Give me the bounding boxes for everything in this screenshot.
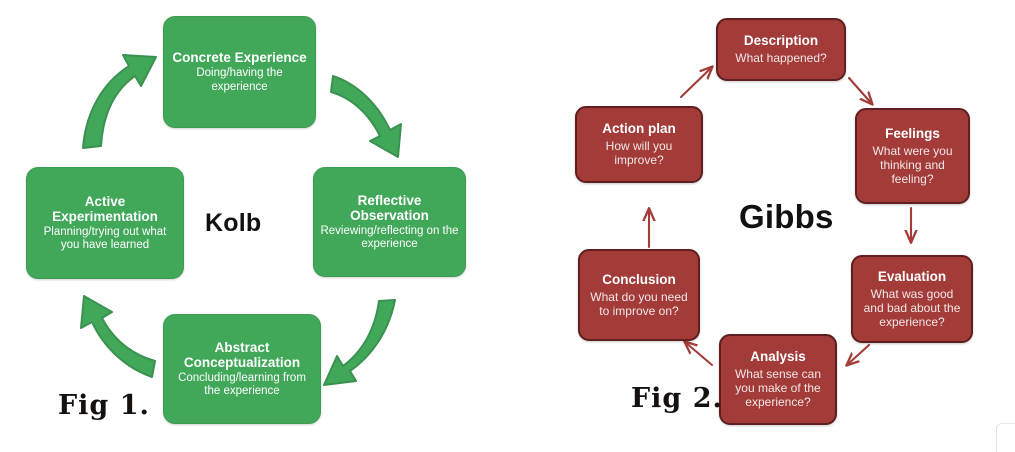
kolb-arrow-ce-to-ro [331, 76, 401, 157]
kolb-node-title: Concrete Experience [172, 50, 306, 65]
kolb-node-subtitle: Concluding/learning from the experience [170, 372, 314, 399]
gibbs-node-conclusion[interactable]: Conclusion What do you need to improve o… [578, 249, 700, 341]
gibbs-node-subtitle: How will you improve? [583, 140, 695, 168]
kolb-node-subtitle: Planning/trying out what you have learne… [33, 226, 177, 253]
gibbs-node-subtitle: What was good and bad about the experien… [859, 288, 965, 330]
kolb-node-title: Active Experimentation [33, 194, 177, 224]
gibbs-node-description[interactable]: Description What happened? [716, 18, 846, 81]
gibbs-arrow-evaluation-to-analysis [847, 345, 869, 365]
kolb-node-title: Reflective Observation [320, 193, 459, 223]
kolb-node-subtitle: Reviewing/reflecting on the experience [320, 225, 459, 252]
kolb-node-active-experimentation[interactable]: Active Experimentation Planning/trying o… [26, 167, 184, 279]
gibbs-figure-caption: Fig 2. [631, 383, 723, 414]
page-corner-artifact [996, 423, 1015, 452]
kolb-arrow-ac-to-ae [81, 296, 155, 377]
gibbs-node-subtitle: What do you need to improve on? [586, 291, 692, 319]
gibbs-node-title: Action plan [602, 121, 676, 136]
kolb-node-subtitle: Doing/having the experience [170, 67, 309, 94]
kolb-center-label: Kolb [205, 209, 261, 238]
gibbs-arrow-actionplan-to-description [681, 67, 712, 97]
gibbs-node-title: Description [744, 33, 818, 48]
kolb-arrow-ro-to-ac [324, 300, 395, 385]
gibbs-node-subtitle: What sense can you make of the experienc… [727, 368, 829, 410]
gibbs-node-feelings[interactable]: Feelings What were you thinking and feel… [855, 108, 970, 204]
gibbs-node-title: Feelings [885, 126, 940, 141]
gibbs-arrow-analysis-to-conclusion [685, 342, 712, 365]
gibbs-node-title: Conclusion [602, 272, 676, 287]
gibbs-node-evaluation[interactable]: Evaluation What was good and bad about t… [851, 255, 973, 343]
gibbs-node-analysis[interactable]: Analysis What sense can you make of the … [719, 334, 837, 425]
gibbs-arrow-description-to-feelings [849, 78, 872, 104]
gibbs-node-title: Analysis [750, 349, 806, 364]
kolb-node-concrete-experience[interactable]: Concrete Experience Doing/having the exp… [163, 16, 316, 128]
gibbs-node-action-plan[interactable]: Action plan How will you improve? [575, 106, 703, 183]
gibbs-node-title: Evaluation [878, 269, 946, 284]
gibbs-center-label: Gibbs [739, 198, 834, 236]
kolb-node-abstract-conceptualization[interactable]: Abstract Conceptualization Concluding/le… [163, 314, 321, 424]
kolb-figure-caption: Fig 1. [58, 390, 150, 421]
kolb-node-title: Abstract Conceptualization [170, 340, 314, 370]
kolb-node-reflective-observation[interactable]: Reflective Observation Reviewing/reflect… [313, 167, 466, 277]
gibbs-node-subtitle: What happened? [735, 52, 826, 66]
diagram-canvas: Concrete Experience Doing/having the exp… [0, 0, 1015, 452]
gibbs-node-subtitle: What were you thinking and feeling? [863, 145, 962, 187]
kolb-arrow-ae-to-ce [83, 55, 156, 148]
